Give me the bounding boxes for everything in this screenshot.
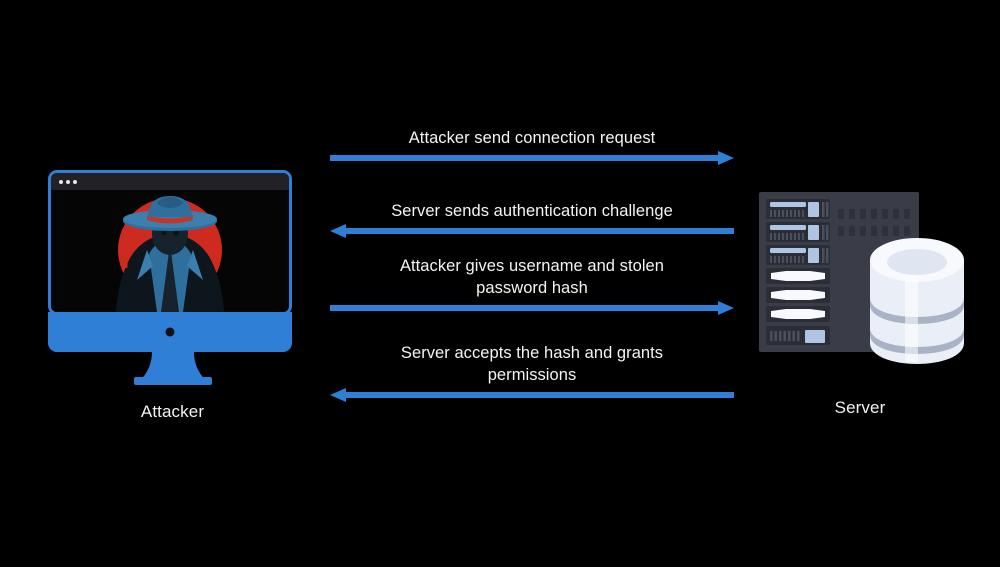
message-label-4: Server accepts the hash and grants permi… bbox=[330, 343, 734, 387]
server-rack-icon bbox=[745, 180, 975, 395]
arrow-right-icon bbox=[330, 300, 734, 316]
attacker-monitor-icon bbox=[48, 170, 292, 315]
database-cylinder-icon bbox=[870, 238, 964, 364]
message-flow-1: Attacker send connection request bbox=[330, 128, 734, 166]
message-label-3: Attacker gives username and stolen passw… bbox=[330, 256, 734, 300]
window-dot-1 bbox=[59, 180, 63, 184]
server-node: Server bbox=[745, 180, 975, 430]
arrow-left-icon bbox=[330, 223, 734, 239]
arrow-left-icon bbox=[330, 387, 734, 403]
monitor-power-dot bbox=[166, 328, 175, 337]
message-flow-2: Server sends authentication challenge bbox=[330, 201, 734, 239]
arrow-right-icon bbox=[330, 150, 734, 166]
window-dot-3 bbox=[73, 180, 77, 184]
monitor-screen bbox=[51, 190, 289, 312]
monitor-chin bbox=[48, 312, 292, 352]
message-flow-3: Attacker gives username and stolen passw… bbox=[330, 256, 734, 316]
window-dot-2 bbox=[66, 180, 70, 184]
attacker-node-label: Attacker bbox=[40, 402, 305, 422]
attacker-node: Attacker bbox=[40, 165, 305, 430]
server-node-label: Server bbox=[745, 398, 975, 418]
monitor-titlebar bbox=[51, 173, 289, 190]
message-label-2: Server sends authentication challenge bbox=[330, 201, 734, 223]
monitor-stand-base bbox=[134, 377, 212, 385]
spy-figure-icon bbox=[95, 194, 245, 312]
diagram-canvas: Attacker bbox=[0, 0, 1000, 567]
message-flow-4: Server accepts the hash and grants permi… bbox=[330, 343, 734, 403]
message-label-1: Attacker send connection request bbox=[330, 128, 734, 150]
